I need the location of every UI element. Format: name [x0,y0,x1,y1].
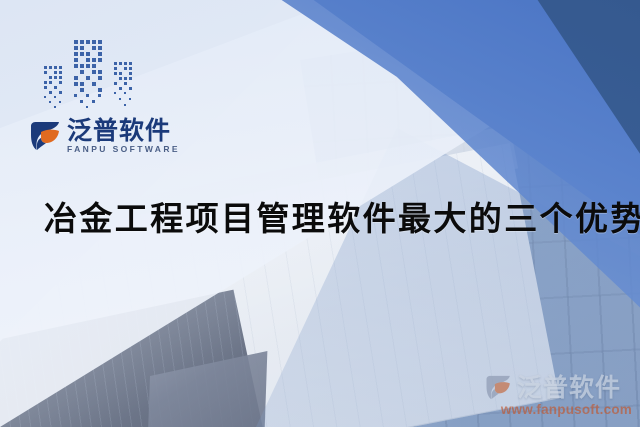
promo-banner: 泛普软件 FANPU SOFTWARE 冶金工程项目管理软件最大的三个优势 泛普… [0,0,640,427]
brand-logo-block: 泛普软件 FANPU SOFTWARE [26,36,176,154]
watermark: 泛普软件 www.fanpusoft.com [484,374,632,417]
logo-wordmark: 泛普软件 FANPU SOFTWARE [67,118,180,154]
logo-name-en: FANPU SOFTWARE [67,145,180,154]
logo-lockup: 泛普软件 FANPU SOFTWARE [28,118,176,154]
pixel-skyline-icon [40,36,152,114]
fanpu-watermark-icon [484,374,514,401]
watermark-lockup: 泛普软件 [484,374,632,401]
watermark-name-cn: 泛普软件 [517,375,621,400]
page-title: 冶金工程项目管理软件最大的三个优势 [44,199,604,239]
fanpu-logo-icon [28,120,64,152]
logo-name-cn: 泛普软件 [67,118,180,143]
watermark-url: www.fanpusoft.com [484,402,632,417]
